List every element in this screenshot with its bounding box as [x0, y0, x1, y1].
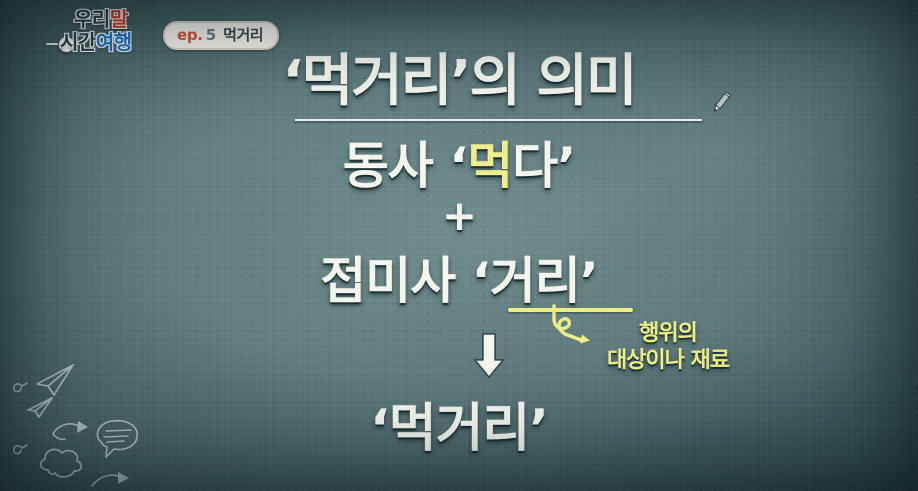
- page-title: ‘먹거리’의 의미: [282, 36, 635, 117]
- swirl-doodle-left: [14, 383, 27, 392]
- down-arrow-icon: [472, 332, 506, 380]
- annotation-line-2: 대상이나 재료: [583, 348, 753, 375]
- logo-line-2: 시간여행: [60, 26, 132, 55]
- cloud-doodle: [41, 449, 82, 477]
- episode-title: 먹거리: [223, 28, 263, 43]
- swirl-doodle-lower: [14, 445, 27, 454]
- title-divider: [295, 119, 702, 121]
- verb-highlight: 먹: [467, 137, 512, 195]
- logo-text-yeohaeng: 여행: [96, 30, 132, 54]
- verb-line: 동사 ‘먹다’: [343, 126, 575, 198]
- verb-tail: 다’: [512, 137, 575, 195]
- episode-badge: ep. 5 먹거리: [163, 21, 279, 50]
- paper-airplane-small-doodle: [28, 398, 52, 417]
- pencil-icon: [706, 88, 736, 118]
- suffix-label: 접미사 ‘: [320, 252, 489, 310]
- chalkboard-screen: 우리말 시간여행 ep. 5 먹거리 ‘먹거리’의 의미 동사 ‘먹다’ + 접…: [0, 0, 918, 491]
- annotation-line-1: 행위의: [583, 321, 753, 348]
- plus-operator: +: [442, 191, 476, 240]
- logo-text-sigan: 시간: [60, 30, 96, 54]
- episode-prefix: ep.: [177, 28, 203, 43]
- episode-number: 5: [206, 28, 216, 43]
- speech-bubble-doodle: [97, 421, 137, 457]
- paper-airplane-large-doodle: [37, 365, 73, 395]
- curved-arrow-doodle: [53, 421, 88, 439]
- chalk-doodles: [0, 338, 180, 491]
- verb-label: 동사 ‘: [343, 137, 467, 195]
- result-line: ‘먹거리’: [370, 386, 548, 461]
- program-logo: 우리말 시간여행: [58, 2, 178, 56]
- annotation-note: 행위의 대상이나 재료: [583, 321, 753, 375]
- arrow-right-doodle: [92, 472, 129, 486]
